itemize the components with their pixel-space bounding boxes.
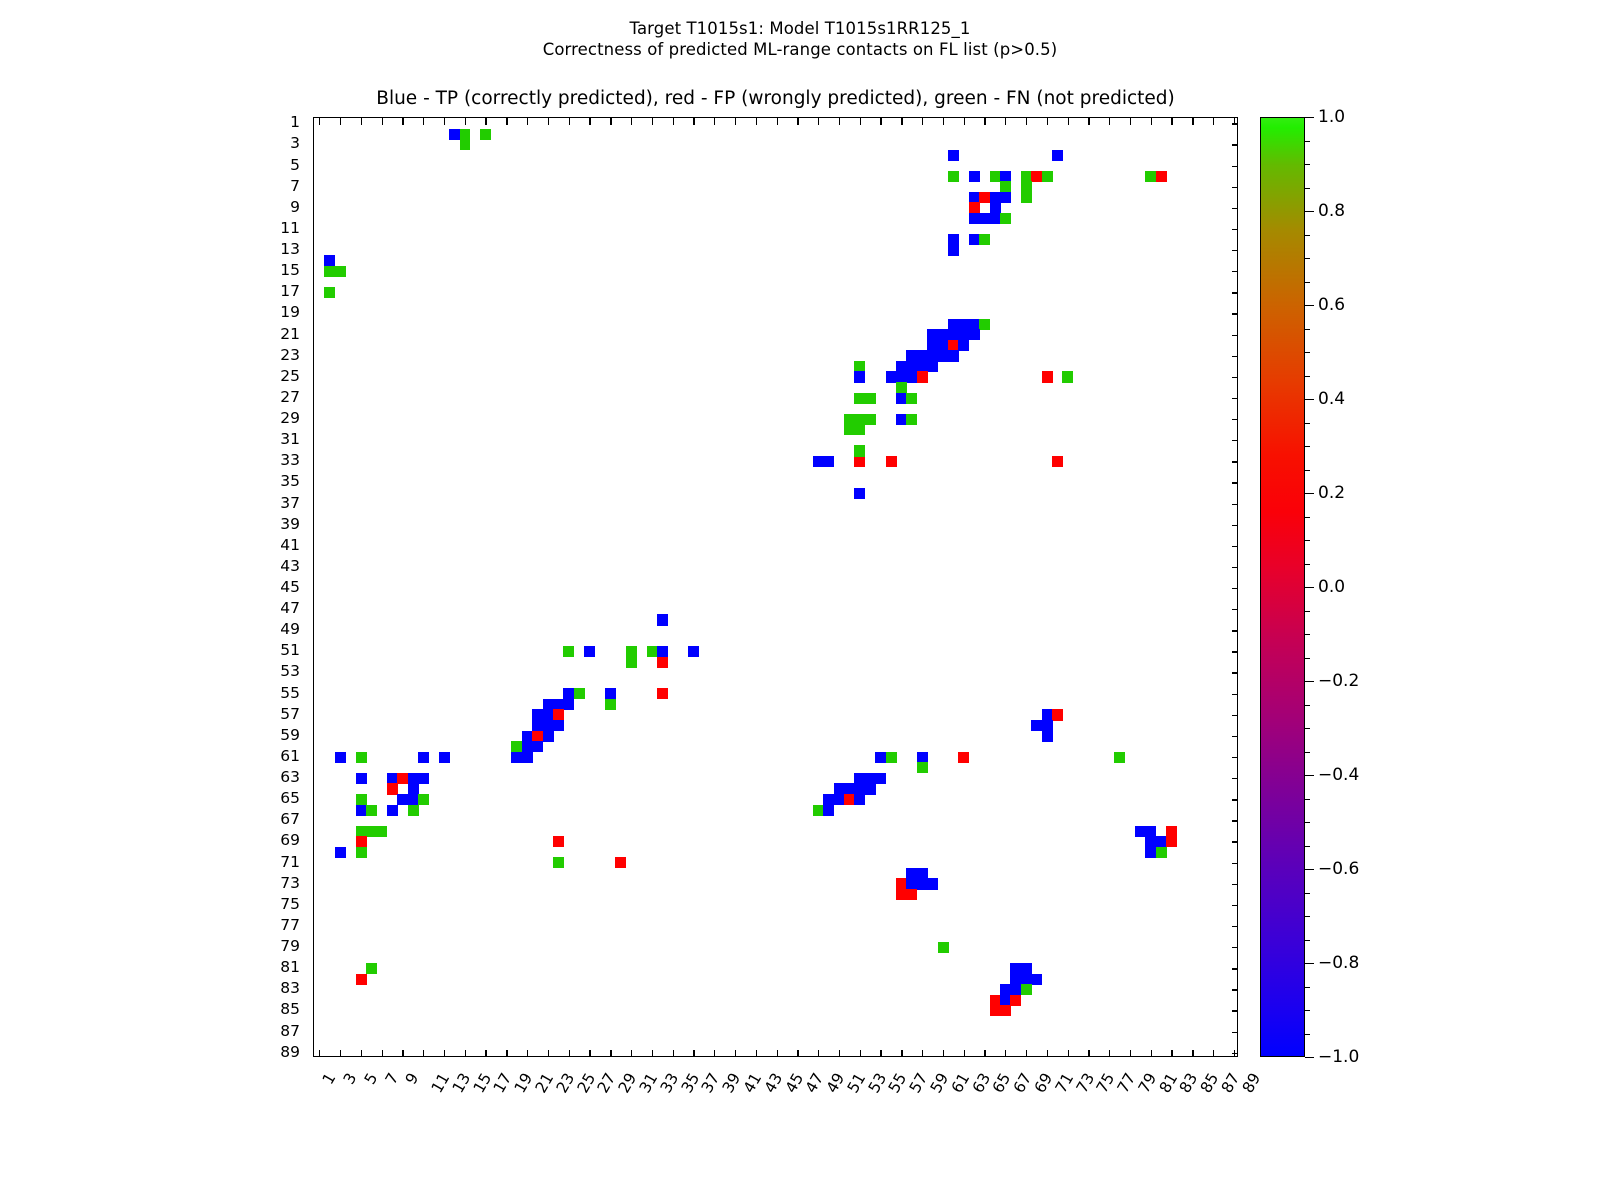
colorbar-minor-tick <box>1305 564 1310 565</box>
x-axis-label: 9 <box>402 1070 423 1088</box>
y-tick <box>313 166 314 167</box>
y-tick-right <box>1232 208 1238 209</box>
x-tick-top <box>652 118 653 125</box>
x-tick <box>382 1050 383 1057</box>
x-tick-top <box>465 118 466 125</box>
y-tick <box>313 567 314 568</box>
x-tick-top <box>506 118 507 125</box>
x-tick-top <box>1192 118 1193 125</box>
colorbar-tick-label: −0.2 <box>1318 671 1359 691</box>
contact-cell <box>823 456 834 467</box>
y-tick-right <box>1232 630 1238 631</box>
x-tick-top <box>631 118 632 125</box>
y-tick <box>313 630 314 631</box>
x-axis-label: 3 <box>340 1070 361 1088</box>
y-axis-label: 33 <box>280 451 300 469</box>
x-tick-top <box>1088 118 1089 125</box>
y-tick <box>313 778 314 779</box>
contact-cell <box>584 646 595 657</box>
colorbar-minor-tick <box>1305 141 1310 142</box>
x-tick-top <box>610 118 611 125</box>
colorbar-minor-tick <box>1305 752 1310 753</box>
contact-cell <box>657 657 668 668</box>
contact-cell <box>906 361 917 372</box>
contact-cell <box>356 773 367 784</box>
y-tick <box>313 947 314 948</box>
contact-cell <box>356 974 367 985</box>
contact-cell <box>408 805 419 816</box>
y-tick-right <box>1232 1032 1238 1033</box>
y-tick-right <box>1232 292 1238 293</box>
colorbar-minor-tick <box>1305 188 1310 189</box>
y-tick <box>313 525 314 526</box>
x-tick <box>901 1050 902 1057</box>
y-tick-right <box>1232 377 1238 378</box>
y-tick-right <box>1232 884 1238 885</box>
x-tick-top <box>548 118 549 125</box>
contact-cell <box>854 414 865 425</box>
y-tick <box>313 250 314 251</box>
x-tick-top <box>860 118 861 125</box>
contact-cell <box>990 202 1001 213</box>
contact-cell <box>397 794 408 805</box>
contact-cell <box>532 709 543 720</box>
contact-cell <box>418 752 429 763</box>
y-axis-label: 85 <box>280 1000 300 1018</box>
contact-cell <box>1021 181 1032 192</box>
y-tick <box>313 1010 314 1011</box>
contact-cell <box>1156 171 1167 182</box>
x-tick-top <box>1005 118 1006 125</box>
contact-cell <box>1145 847 1156 858</box>
y-axis-label: 61 <box>280 747 300 765</box>
contact-cell <box>917 350 928 361</box>
colorbar-tick-labels: −1.0−0.8−0.6−0.4−0.20.00.20.40.60.81.0 <box>1260 117 1305 1057</box>
colorbar-minor-tick <box>1305 258 1310 259</box>
y-tick <box>313 968 314 969</box>
contact-cell <box>387 773 398 784</box>
contact-cell <box>418 773 429 784</box>
x-tick <box>673 1050 674 1057</box>
contact-cell <box>896 889 907 900</box>
contact-cell <box>1042 731 1053 742</box>
x-tick-top <box>673 118 674 125</box>
contact-cell <box>854 783 865 794</box>
x-tick-top <box>756 118 757 125</box>
y-tick <box>313 989 314 990</box>
contact-cell <box>854 361 865 372</box>
contact-cell <box>990 171 1001 182</box>
colorbar-tick <box>1305 211 1314 212</box>
x-tick-top <box>1171 118 1172 125</box>
y-tick-right <box>1232 166 1238 167</box>
y-axis-label: 23 <box>280 346 300 364</box>
contact-cell <box>366 805 377 816</box>
colorbar-tick-label: 0.8 <box>1318 201 1345 221</box>
y-tick <box>313 377 314 378</box>
colorbar-minor-tick <box>1305 775 1310 776</box>
contact-cell <box>1031 974 1042 985</box>
contact-cell <box>854 488 865 499</box>
x-tick-top <box>485 118 486 125</box>
contact-cell <box>356 805 367 816</box>
contact-cell <box>896 361 907 372</box>
contact-cell <box>938 340 949 351</box>
contact-cell <box>511 752 522 763</box>
x-tick-top <box>984 118 985 125</box>
x-tick <box>1005 1050 1006 1057</box>
y-tick <box>313 546 314 547</box>
y-axis-label: 53 <box>280 662 300 680</box>
x-tick <box>1047 1050 1048 1057</box>
y-tick <box>313 715 314 716</box>
contact-cell <box>553 836 564 847</box>
x-tick-top <box>1047 118 1048 125</box>
x-tick-top <box>1109 118 1110 125</box>
contact-cell <box>1010 974 1021 985</box>
y-tick-right <box>1232 250 1238 251</box>
y-tick-right <box>1232 567 1238 568</box>
contact-cell <box>865 783 876 794</box>
contact-cell <box>865 773 876 784</box>
x-tick <box>1130 1050 1131 1057</box>
x-tick-top <box>1213 118 1214 125</box>
y-axis-label: 1 <box>290 113 300 131</box>
x-tick-top <box>1068 118 1069 125</box>
contact-cell <box>927 878 938 889</box>
x-tick <box>1068 1050 1069 1057</box>
colorbar-tick-label: −0.4 <box>1318 765 1359 785</box>
y-tick-right <box>1232 947 1238 948</box>
x-tick-top <box>527 118 528 125</box>
y-axis-label: 59 <box>280 726 300 744</box>
colorbar-minor-tick <box>1305 352 1310 353</box>
y-tick <box>313 440 314 441</box>
x-tick-top <box>402 118 403 125</box>
y-tick-right <box>1232 440 1238 441</box>
x-tick-top <box>714 118 715 125</box>
x-tick <box>735 1050 736 1057</box>
contact-cell <box>1052 150 1063 161</box>
contact-cell <box>917 762 928 773</box>
colorbar-minor-tick <box>1305 893 1310 894</box>
contact-cells-layer <box>314 118 1237 1056</box>
contact-cell <box>511 741 522 752</box>
contact-map-plot-area[interactable] <box>313 117 1238 1057</box>
contact-cell <box>958 752 969 763</box>
contact-cell <box>1000 213 1011 224</box>
contact-cell <box>1021 192 1032 203</box>
x-axis-label: 71 <box>1052 1070 1077 1096</box>
contact-cell <box>1052 456 1063 467</box>
contact-cell <box>844 424 855 435</box>
x-tick <box>1026 1050 1027 1057</box>
contact-cell <box>906 889 917 900</box>
x-tick <box>485 1050 486 1057</box>
y-tick-right <box>1232 672 1238 673</box>
contact-cell <box>958 329 969 340</box>
contact-cell <box>563 688 574 699</box>
contact-cell <box>938 329 949 340</box>
x-tick-top <box>901 118 902 125</box>
contact-cell <box>886 371 897 382</box>
colorbar-minor-tick <box>1305 329 1310 330</box>
contact-cell <box>854 773 865 784</box>
colorbar-tick <box>1305 587 1314 588</box>
y-axis-label: 39 <box>280 515 300 533</box>
colorbar-minor-tick <box>1305 1010 1310 1011</box>
y-tick <box>313 736 314 737</box>
y-axis-label: 3 <box>290 134 300 152</box>
x-tick <box>631 1050 632 1057</box>
x-tick <box>964 1050 965 1057</box>
x-tick <box>922 1050 923 1057</box>
contact-cell <box>1010 984 1021 995</box>
y-axis-label: 83 <box>280 979 300 997</box>
y-tick <box>313 694 314 695</box>
y-tick-right <box>1232 968 1238 969</box>
y-axis-label: 81 <box>280 958 300 976</box>
y-axis-label: 65 <box>280 789 300 807</box>
colorbar-minor-tick <box>1305 940 1310 941</box>
y-tick <box>313 398 314 399</box>
y-tick-right <box>1232 736 1238 737</box>
y-tick <box>313 820 314 821</box>
y-tick <box>313 461 314 462</box>
contact-cell <box>324 255 335 266</box>
x-tick <box>361 1050 362 1057</box>
x-tick-top <box>943 118 944 125</box>
y-tick-right <box>1232 778 1238 779</box>
x-tick <box>943 1050 944 1057</box>
y-tick-right <box>1232 926 1238 927</box>
y-tick <box>313 926 314 927</box>
contact-cell <box>906 414 917 425</box>
contact-cell <box>1145 836 1156 847</box>
colorbar-minor-tick <box>1305 987 1310 988</box>
x-tick-top <box>569 118 570 125</box>
x-tick <box>652 1050 653 1057</box>
x-tick <box>839 1050 840 1057</box>
x-tick <box>1192 1050 1193 1057</box>
y-axis-label: 73 <box>280 874 300 892</box>
contact-cell <box>875 752 886 763</box>
colorbar-minor-tick <box>1305 1034 1310 1035</box>
colorbar-tick-label: 0.6 <box>1318 295 1345 315</box>
axes-title-legend: Blue - TP (correctly predicted), red - F… <box>313 88 1238 109</box>
y-tick-right <box>1232 588 1238 589</box>
contact-cell <box>854 794 865 805</box>
contact-cell <box>543 709 554 720</box>
x-tick-top <box>693 118 694 125</box>
y-tick-right <box>1232 609 1238 610</box>
contact-cell <box>460 139 471 150</box>
contact-cell <box>896 371 907 382</box>
x-axis-label: 51 <box>844 1070 869 1096</box>
contact-cell <box>906 350 917 361</box>
colorbar-minor-tick <box>1305 235 1310 236</box>
contact-cell <box>522 752 533 763</box>
x-tick <box>569 1050 570 1057</box>
contact-cell <box>938 942 949 953</box>
y-axis-label: 45 <box>280 578 300 596</box>
y-tick-right <box>1232 694 1238 695</box>
x-axis-label: 77 <box>1114 1070 1139 1096</box>
x-tick <box>589 1050 590 1057</box>
contact-cell <box>408 794 419 805</box>
x-axis-label: 43 <box>761 1070 786 1096</box>
y-tick-right <box>1232 1053 1238 1054</box>
y-axis-label: 31 <box>280 430 300 448</box>
x-tick-top <box>1151 118 1152 125</box>
x-axis-label: 49 <box>823 1070 848 1096</box>
y-tick <box>313 757 314 758</box>
contact-cell <box>460 129 471 140</box>
contact-cell <box>1031 171 1042 182</box>
y-tick-right <box>1232 1010 1238 1011</box>
contact-cell <box>886 752 897 763</box>
contact-cell <box>563 699 574 710</box>
y-tick <box>313 672 314 673</box>
contact-cell <box>865 414 876 425</box>
contact-cell <box>917 878 928 889</box>
contact-cell <box>439 752 450 763</box>
y-axis-label: 29 <box>280 409 300 427</box>
y-tick <box>313 905 314 906</box>
contact-cell <box>1156 836 1167 847</box>
x-tick-top <box>880 118 881 125</box>
contact-cell <box>823 805 834 816</box>
x-axis-tick-labels: 1357911131517192123252729313335373941434… <box>313 1057 1238 1127</box>
contact-cell <box>335 847 346 858</box>
contact-cell <box>854 393 865 404</box>
y-axis-label: 57 <box>280 705 300 723</box>
contact-cell <box>948 171 959 182</box>
x-tick <box>402 1050 403 1057</box>
x-axis-label: 41 <box>740 1070 765 1096</box>
x-axis-label: 39 <box>719 1070 744 1096</box>
colorbar-minor-tick <box>1305 470 1310 471</box>
colorbar-tick-label: −0.6 <box>1318 859 1359 879</box>
contact-cell <box>1021 984 1032 995</box>
x-tick <box>444 1050 445 1057</box>
y-tick-right <box>1232 504 1238 505</box>
x-tick-top <box>922 118 923 125</box>
y-tick-right <box>1232 335 1238 336</box>
contact-cell <box>823 794 834 805</box>
y-tick-right <box>1232 841 1238 842</box>
y-axis-label: 21 <box>280 325 300 343</box>
y-axis-label: 69 <box>280 831 300 849</box>
x-tick <box>423 1050 424 1057</box>
colorbar-tick <box>1305 117 1314 118</box>
y-tick <box>313 884 314 885</box>
colorbar-minor-tick <box>1305 705 1310 706</box>
y-tick <box>313 229 314 230</box>
contact-cell <box>522 741 533 752</box>
contact-cell <box>865 393 876 404</box>
y-axis-label: 87 <box>280 1022 300 1040</box>
contact-cell <box>969 213 980 224</box>
y-tick <box>313 356 314 357</box>
contact-cell <box>969 202 980 213</box>
x-tick-top <box>839 118 840 125</box>
contact-cell <box>366 963 377 974</box>
contact-cell <box>553 720 564 731</box>
contact-cell <box>532 731 543 742</box>
colorbar-minor-tick <box>1305 376 1310 377</box>
x-axis-label: 33 <box>657 1070 682 1096</box>
contact-cell <box>626 646 637 657</box>
y-axis-label: 75 <box>280 895 300 913</box>
y-axis-label: 19 <box>280 303 300 321</box>
contact-cell <box>927 361 938 372</box>
contact-cell <box>948 340 959 351</box>
x-tick <box>1109 1050 1110 1057</box>
x-tick-top <box>319 118 320 125</box>
contact-cell <box>979 234 990 245</box>
contact-cell <box>335 266 346 277</box>
suptitle-line-2: Correctness of predicted ML-range contac… <box>0 39 1600 60</box>
contact-cell <box>1145 826 1156 837</box>
y-axis-label: 37 <box>280 494 300 512</box>
x-tick-top <box>423 118 424 125</box>
contact-cell <box>543 720 554 731</box>
contact-cell <box>969 234 980 245</box>
colorbar-minor-tick <box>1305 658 1310 659</box>
x-tick <box>860 1050 861 1057</box>
x-tick-top <box>1234 118 1235 125</box>
contact-cell <box>356 847 367 858</box>
y-axis-label: 9 <box>290 198 300 216</box>
y-axis-label: 47 <box>280 599 300 617</box>
y-tick <box>313 313 314 314</box>
x-tick <box>1171 1050 1172 1057</box>
y-tick <box>313 504 314 505</box>
y-axis-label: 13 <box>280 240 300 258</box>
contact-cell <box>979 319 990 330</box>
contact-cell <box>356 836 367 847</box>
y-tick-right <box>1232 863 1238 864</box>
contact-cell <box>1000 192 1011 203</box>
x-axis-label: 79 <box>1135 1070 1160 1096</box>
contact-cell <box>948 350 959 361</box>
y-tick-right <box>1232 144 1238 145</box>
contact-cell <box>335 752 346 763</box>
contact-cell <box>553 709 564 720</box>
x-tick <box>756 1050 757 1057</box>
y-tick-right <box>1232 799 1238 800</box>
y-axis-label: 49 <box>280 620 300 638</box>
contact-cell <box>948 150 959 161</box>
contact-cell <box>418 794 429 805</box>
contact-cell <box>990 213 1001 224</box>
colorbar-minor-tick <box>1305 282 1310 283</box>
y-axis-label: 51 <box>280 641 300 659</box>
y-axis-label: 27 <box>280 388 300 406</box>
contact-cell <box>324 266 335 277</box>
x-tick-top <box>1130 118 1131 125</box>
colorbar-tick-label: 0.0 <box>1318 577 1345 597</box>
x-tick <box>797 1050 798 1057</box>
colorbar-minor-tick <box>1305 164 1310 165</box>
contact-cell <box>543 699 554 710</box>
x-tick <box>984 1050 985 1057</box>
x-axis-label: 11 <box>428 1070 453 1096</box>
colorbar-minor-tick <box>1305 611 1310 612</box>
contact-cell <box>979 192 990 203</box>
colorbar-minor-tick <box>1305 446 1310 447</box>
